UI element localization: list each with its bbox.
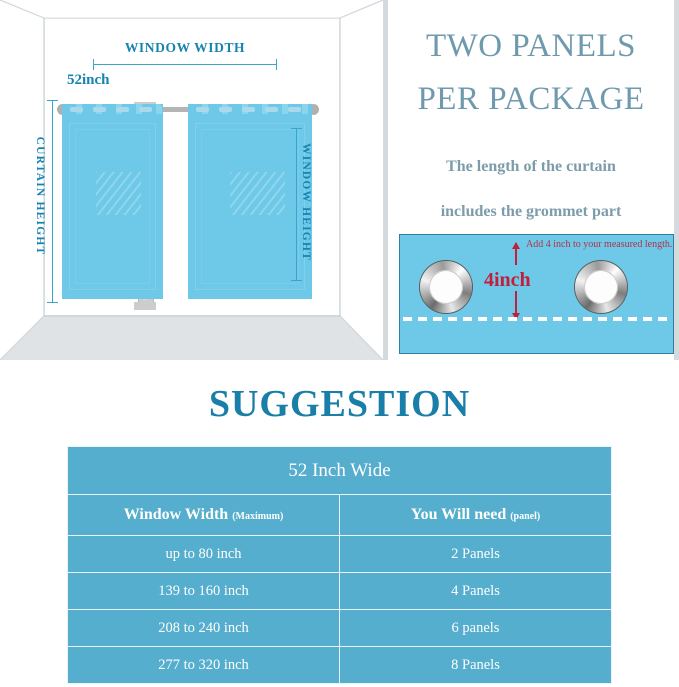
grommet-ring-icon xyxy=(575,261,627,313)
grommet-ring-icon xyxy=(420,261,472,313)
room-illustration: WINDOW WIDTH 52inch CURTAIN HEIGHT WINDO… xyxy=(0,0,383,360)
window-width-tick-left xyxy=(93,59,94,70)
column-header-sub: (Maximum) xyxy=(232,511,283,522)
curtain-height-dimension-line xyxy=(52,100,53,302)
column-header-main: You Will need xyxy=(411,506,506,523)
cell-window-width: 277 to 320 inch xyxy=(68,647,340,684)
table-row: up to 80 inch 2 Panels xyxy=(68,536,612,573)
curtain-panel-left xyxy=(62,104,163,299)
window-height-label: WINDOW HEIGHT xyxy=(300,132,312,272)
headline-line-2: PER PACKAGE xyxy=(388,81,674,118)
column-header-panels-needed: You Will need (panel) xyxy=(340,495,612,536)
grommet-measure-label: 4inch xyxy=(484,269,531,292)
subheadline-line-1: The length of the curtain xyxy=(388,158,674,176)
curtain-panel-right xyxy=(188,104,312,299)
window-height-tick-bottom xyxy=(291,280,302,281)
curtain-height-tick-bottom xyxy=(47,302,58,303)
table-row: 139 to 160 inch 4 Panels xyxy=(68,573,612,610)
cell-window-width: 208 to 240 inch xyxy=(68,610,340,647)
grommet-tab-icon xyxy=(139,107,152,112)
panel-width-label: 52inch xyxy=(67,72,110,89)
arrow-up-icon xyxy=(515,243,517,265)
measurement-dashed-line xyxy=(403,317,671,321)
cell-window-width: 139 to 160 inch xyxy=(68,573,340,610)
curtain-height-tick-top xyxy=(47,100,58,101)
cell-panels: 4 Panels xyxy=(340,573,612,610)
panel-sheen xyxy=(96,172,140,215)
grommet-diagram: Add 4 inch to your measured length. 4inc… xyxy=(399,234,674,354)
headline-line-1: TWO PANELS xyxy=(388,28,674,65)
vertical-divider-right xyxy=(674,0,679,360)
grommet-tab-icon xyxy=(265,107,278,112)
cell-panels: 2 Panels xyxy=(340,536,612,573)
window-width-label: WINDOW WIDTH xyxy=(85,40,285,56)
grommet-tab-icon xyxy=(93,107,106,112)
window-width-dimension-line xyxy=(93,64,277,65)
table-banner-row: 52 Inch Wide xyxy=(68,447,612,495)
curtain-height-label: CURTAIN HEIGHT xyxy=(34,116,46,276)
window-width-tick-right xyxy=(276,59,277,70)
grommet-tab-icon xyxy=(242,107,255,112)
infographic-page: WINDOW WIDTH 52inch CURTAIN HEIGHT WINDO… xyxy=(0,0,679,687)
arrow-down-icon xyxy=(515,291,517,313)
table-row: 277 to 320 inch 8 Panels xyxy=(68,647,612,684)
cell-window-width: up to 80 inch xyxy=(68,536,340,573)
grommet-tab-icon xyxy=(288,107,301,112)
window-sill xyxy=(134,302,156,310)
suggestion-title: SUGGESTION xyxy=(0,382,679,426)
window-height-dimension-line xyxy=(296,128,297,280)
grommet-tab-icon xyxy=(70,107,83,112)
column-header-window-width: Window Width (Maximum) xyxy=(68,495,340,536)
table-row: 208 to 240 inch 6 panels xyxy=(68,610,612,647)
subheadline-line-2: includes the grommet part xyxy=(388,203,674,221)
column-header-main: Window Width xyxy=(124,506,229,523)
window-height-tick-top xyxy=(291,128,302,129)
grommet-tab-icon xyxy=(219,107,232,112)
cell-panels: 6 panels xyxy=(340,610,612,647)
panel-sheen xyxy=(230,172,285,215)
column-header-sub: (panel) xyxy=(510,511,540,522)
grommet-tab-icon xyxy=(196,107,209,112)
table-width-banner: 52 Inch Wide xyxy=(68,447,612,495)
grommet-note: Add 4 inch to your measured length. xyxy=(526,239,674,251)
table-header-row: Window Width (Maximum) You Will need (pa… xyxy=(68,495,612,536)
cell-panels: 8 Panels xyxy=(340,647,612,684)
suggestion-table: 52 Inch Wide Window Width (Maximum) You … xyxy=(67,446,612,684)
top-section: WINDOW WIDTH 52inch CURTAIN HEIGHT WINDO… xyxy=(0,0,679,360)
grommet-tab-icon xyxy=(116,107,129,112)
